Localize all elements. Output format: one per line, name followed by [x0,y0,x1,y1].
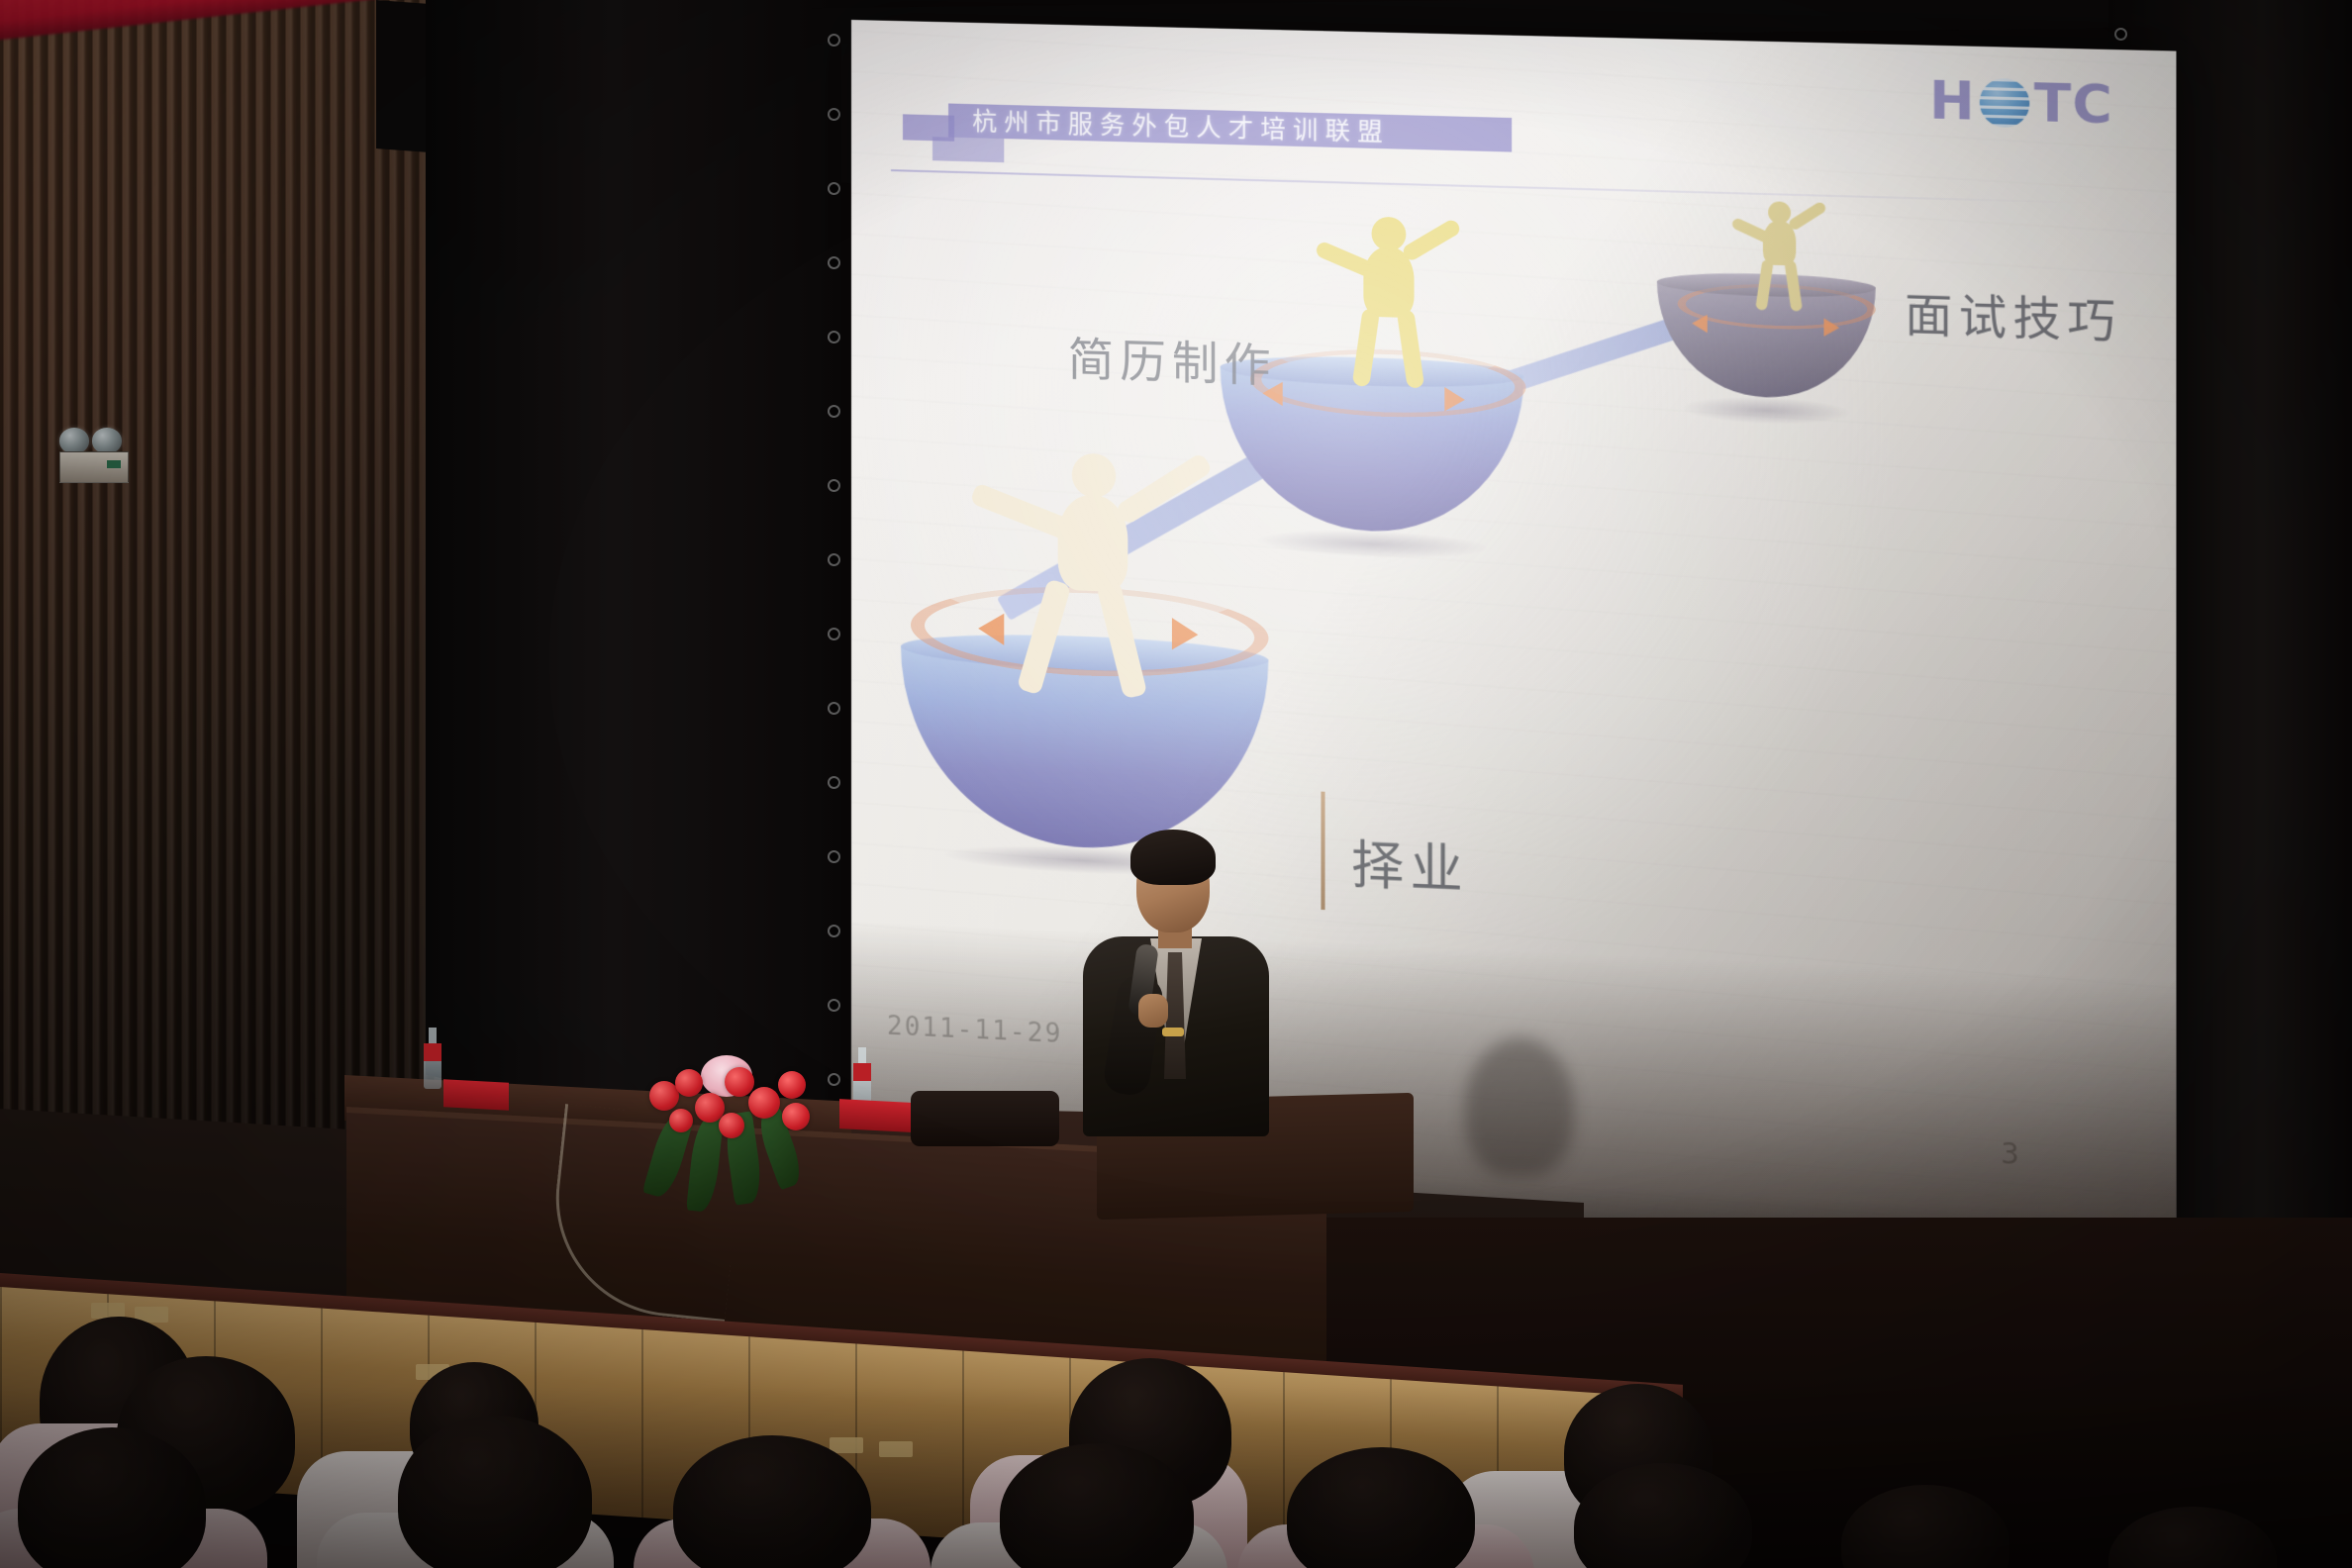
water-bottle-left [424,1028,441,1089]
stage-clip-e [830,1437,863,1453]
presenter-hand [1138,994,1168,1028]
photograph-scene: 杭州市服务外包人才培训联盟 H TC [0,0,2352,1568]
wristwatch [1162,1028,1184,1036]
emergency-lamp-right [92,428,122,453]
presenter-hair [1130,830,1216,885]
laptop-bag [911,1091,1059,1146]
emergency-lamp-left [59,428,89,453]
name-card-right [839,1099,911,1132]
emergency-light-icon [59,428,127,483]
stage-clip-f [879,1441,913,1457]
emergency-light-led [107,460,121,468]
audience-member [398,1416,592,1568]
stage-curtain-left [426,0,841,1168]
name-card-left [443,1079,509,1110]
presenter [1077,820,1275,1136]
projected-head-shadow [1465,1037,1574,1176]
